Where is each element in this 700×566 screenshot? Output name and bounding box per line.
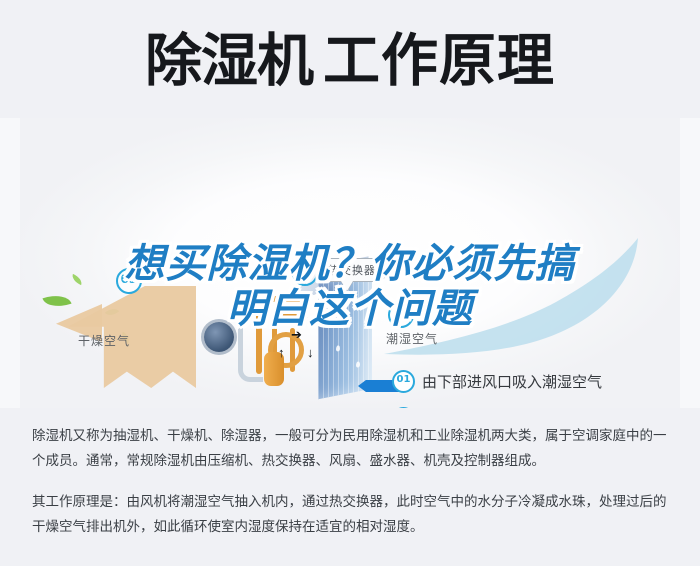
flow-arrow-right-icon: ➔ [291, 328, 302, 341]
flow-arrow-down-icon: ↓ [307, 346, 314, 359]
body-copy: 除湿机又称为抽湿机、干燥机、除湿器，一般可分为民用除湿机和工业除湿机两大类，属于… [32, 424, 672, 540]
step-badge: 01 [392, 370, 415, 393]
evaporator-block [318, 273, 372, 399]
humid-air-label: 潮湿空气 [386, 330, 438, 347]
page-title-part1: 除湿机 [145, 28, 313, 94]
page-title: 除湿机工作原理 [0, 28, 700, 94]
step-list: 01 由下部进风口吸入潮湿空气 02 经过蒸发器冷凝成水珠 03 从上部出风口吹… [392, 370, 692, 408]
step-item: 02 经过蒸发器冷凝成水珠 [392, 407, 692, 408]
badge-01-humid-air: 01 [388, 302, 414, 328]
fan-hub [204, 322, 234, 352]
flow-arrow-up-icon: ↑ [278, 346, 285, 359]
infographic-page: 除湿机工作原理 干燥空气 03 [0, 0, 700, 566]
badge-03-dry-air: 03 [116, 268, 142, 294]
body-paragraph-2: 其工作原理是：由风机将潮湿空气抽入机内，通过热交换器，此时空气中的水分子冷凝成水… [32, 490, 672, 540]
badge-02-heat-exchanger: 02 [292, 260, 318, 286]
step-badge: 02 [392, 407, 415, 408]
dry-air-label: 干燥空气 [78, 332, 130, 349]
step-item: 01 由下部进风口吸入潮湿空气 [392, 370, 692, 393]
page-title-part2: 工作原理 [323, 28, 555, 94]
illustration-stage: 干燥空气 03 ➔ ↑ [0, 118, 700, 408]
body-paragraph-1: 除湿机又称为抽湿机、干燥机、除湿器，一般可分为民用除湿机和工业除湿机两大类，属于… [32, 424, 672, 474]
step-text: 由下部进风口吸入潮湿空气 [422, 371, 602, 392]
